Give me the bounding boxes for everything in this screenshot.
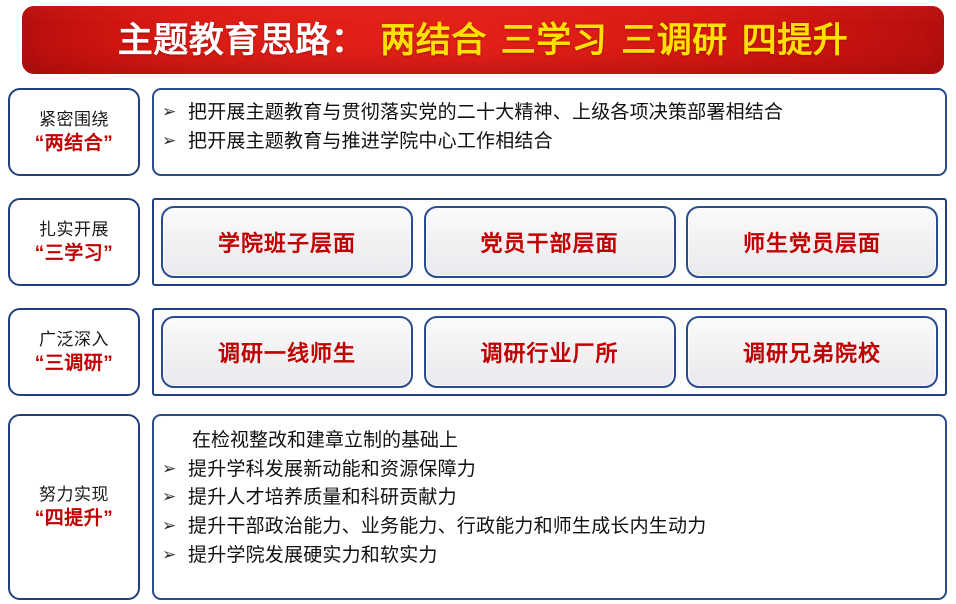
- label-box-two-combinations[interactable]: 紧密围绕 “两结合”: [8, 88, 140, 176]
- list-item-text: 把开展主题教育与贯彻落实党的二十大精神、上级各项决策部署相结合: [188, 101, 935, 126]
- list-item[interactable]: ➢ 提升干部政治能力、业务能力、行政能力和师生成长内生动力: [162, 513, 935, 542]
- content-box-three-researches: 调研一线师生 调研行业厂所 调研兄弟院校: [152, 308, 947, 396]
- label-key-text: “三调研”: [35, 352, 114, 376]
- label-top-text: 努力实现: [39, 484, 109, 505]
- content-box-four-improvements: 在检视整改和建章立制的基础上 ➢ 提升学科发展新动能和资源保障力 ➢ 提升人才培…: [152, 414, 947, 600]
- card-strip-three-studies: 学院班子层面 党员干部层面 师生党员层面: [154, 200, 945, 284]
- card-label: 调研一线师生: [218, 336, 356, 368]
- bullet-list-two-combinations: ➢ 把开展主题教育与贯彻落实党的二十大精神、上级各项决策部署相结合 ➢ 把开展主…: [154, 90, 945, 162]
- intro-line-text: 在检视整改和建章立制的基础上: [162, 425, 935, 456]
- card-study-teachers-students[interactable]: 师生党员层面: [686, 206, 938, 278]
- arrow-bullet-icon: ➢: [162, 515, 188, 538]
- card-label: 调研行业厂所: [480, 336, 618, 368]
- banner-keyword-1: 两结合: [380, 21, 487, 60]
- bullet-list-four-improvements: 在检视整改和建章立制的基础上 ➢ 提升学科发展新动能和资源保障力 ➢ 提升人才培…: [154, 416, 945, 577]
- arrow-bullet-icon: ➢: [162, 544, 188, 567]
- arrow-bullet-icon: ➢: [162, 130, 188, 153]
- title-banner: 主题教育思路：两结合三学习三调研四提升: [22, 6, 944, 74]
- card-research-peer-schools[interactable]: 调研兄弟院校: [686, 316, 938, 388]
- label-top-text: 扎实开展: [39, 219, 109, 240]
- banner-title: 主题教育思路：两结合三学习三调研四提升: [118, 23, 849, 58]
- arrow-bullet-icon: ➢: [162, 458, 188, 481]
- list-item-text: 提升干部政治能力、业务能力、行政能力和师生成长内生动力: [188, 515, 935, 540]
- card-study-leadership[interactable]: 学院班子层面: [161, 206, 413, 278]
- content-box-two-combinations: ➢ 把开展主题教育与贯彻落实党的二十大精神、上级各项决策部署相结合 ➢ 把开展主…: [152, 88, 947, 176]
- label-box-four-improvements[interactable]: 努力实现 “四提升”: [8, 414, 140, 600]
- arrow-bullet-icon: ➢: [162, 486, 188, 509]
- label-key-text: “四提升”: [35, 507, 114, 531]
- label-box-three-studies[interactable]: 扎实开展 “三学习”: [8, 198, 140, 286]
- banner-title-prefix: 主题教育思路：: [118, 21, 367, 60]
- label-box-three-researches[interactable]: 广泛深入 “三调研”: [8, 308, 140, 396]
- card-label: 党员干部层面: [480, 226, 618, 258]
- banner-keyword-3: 三调研: [621, 21, 728, 60]
- content-box-three-studies: 学院班子层面 党员干部层面 师生党员层面: [152, 198, 947, 286]
- label-top-text: 紧密围绕: [39, 109, 109, 130]
- list-item-text: 提升人才培养质量和科研贡献力: [188, 486, 935, 511]
- label-top-text: 广泛深入: [39, 329, 109, 350]
- list-item-text: 提升学科发展新动能和资源保障力: [188, 458, 935, 483]
- label-key-text: “三学习”: [35, 242, 114, 266]
- label-key-text: “两结合”: [35, 132, 114, 156]
- arrow-bullet-icon: ➢: [162, 101, 188, 124]
- banner-keyword-4: 四提升: [742, 21, 849, 60]
- list-item[interactable]: ➢ 提升人才培养质量和科研贡献力: [162, 484, 935, 513]
- list-item-text: 提升学院发展硬实力和软实力: [188, 544, 935, 569]
- list-item[interactable]: ➢ 把开展主题教育与推进学院中心工作相结合: [162, 128, 935, 157]
- list-item-text: 把开展主题教育与推进学院中心工作相结合: [188, 130, 935, 155]
- card-label: 学院班子层面: [218, 226, 356, 258]
- slide-canvas: 主题教育思路：两结合三学习三调研四提升 紧密围绕 “两结合” ➢ 把开展主题教育…: [0, 0, 956, 604]
- card-strip-three-researches: 调研一线师生 调研行业厂所 调研兄弟院校: [154, 310, 945, 394]
- card-research-frontline[interactable]: 调研一线师生: [161, 316, 413, 388]
- banner-keyword-2: 三学习: [501, 21, 608, 60]
- card-study-party-cadres[interactable]: 党员干部层面: [424, 206, 676, 278]
- list-item[interactable]: ➢ 把开展主题教育与贯彻落实党的二十大精神、上级各项决策部署相结合: [162, 99, 935, 128]
- card-label: 调研兄弟院校: [743, 336, 881, 368]
- list-item[interactable]: ➢ 提升学院发展硬实力和软实力: [162, 542, 935, 571]
- card-label: 师生党员层面: [743, 226, 881, 258]
- list-item[interactable]: ➢ 提升学科发展新动能和资源保障力: [162, 456, 935, 485]
- card-research-industry[interactable]: 调研行业厂所: [424, 316, 676, 388]
